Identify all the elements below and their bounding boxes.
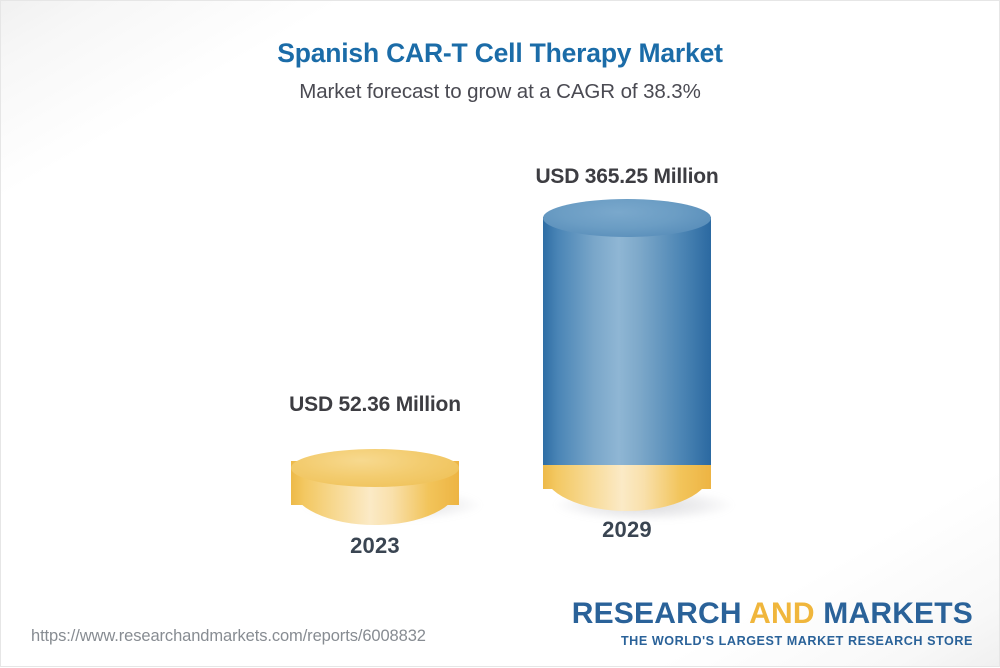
bar-group-2023[interactable]: USD 52.36 Million 2023: [279, 393, 471, 565]
brand-tagline: THE WORLD'S LARGEST MARKET RESEARCH STOR…: [572, 635, 973, 648]
brand-name-accent: AND: [749, 597, 815, 630]
cylinder-top-ellipse-2023: [291, 449, 459, 487]
bar-category-label-2023: 2023: [279, 533, 471, 559]
bar-category-label-2029: 2029: [531, 517, 723, 543]
page-title: Spanish CAR-T Cell Therapy Market: [1, 39, 999, 68]
chart-subtitle: Market forecast to grow at a CAGR of 38.…: [1, 80, 999, 104]
brand-logo[interactable]: RESEARCH AND MARKETS THE WORLD'S LARGEST…: [572, 599, 973, 648]
bar-value-label-2029: USD 365.25 Million: [531, 165, 723, 189]
brand-name-part2: MARKETS: [815, 597, 973, 630]
bar-group-2029[interactable]: USD 365.25 Million 2029: [531, 165, 723, 565]
brand-name: RESEARCH AND MARKETS: [572, 599, 973, 629]
header: Spanish CAR-T Cell Therapy Market Market…: [1, 1, 999, 104]
bar-value-label-2023: USD 52.36 Million: [279, 393, 471, 417]
cylinder-body-upper-2029: [543, 217, 711, 465]
brand-name-part1: RESEARCH: [572, 597, 749, 630]
infographic-canvas: Spanish CAR-T Cell Therapy Market Market…: [0, 0, 1000, 667]
report-url[interactable]: https://www.researchandmarkets.com/repor…: [31, 627, 426, 646]
cylinder-top-ellipse-2029: [543, 199, 711, 237]
